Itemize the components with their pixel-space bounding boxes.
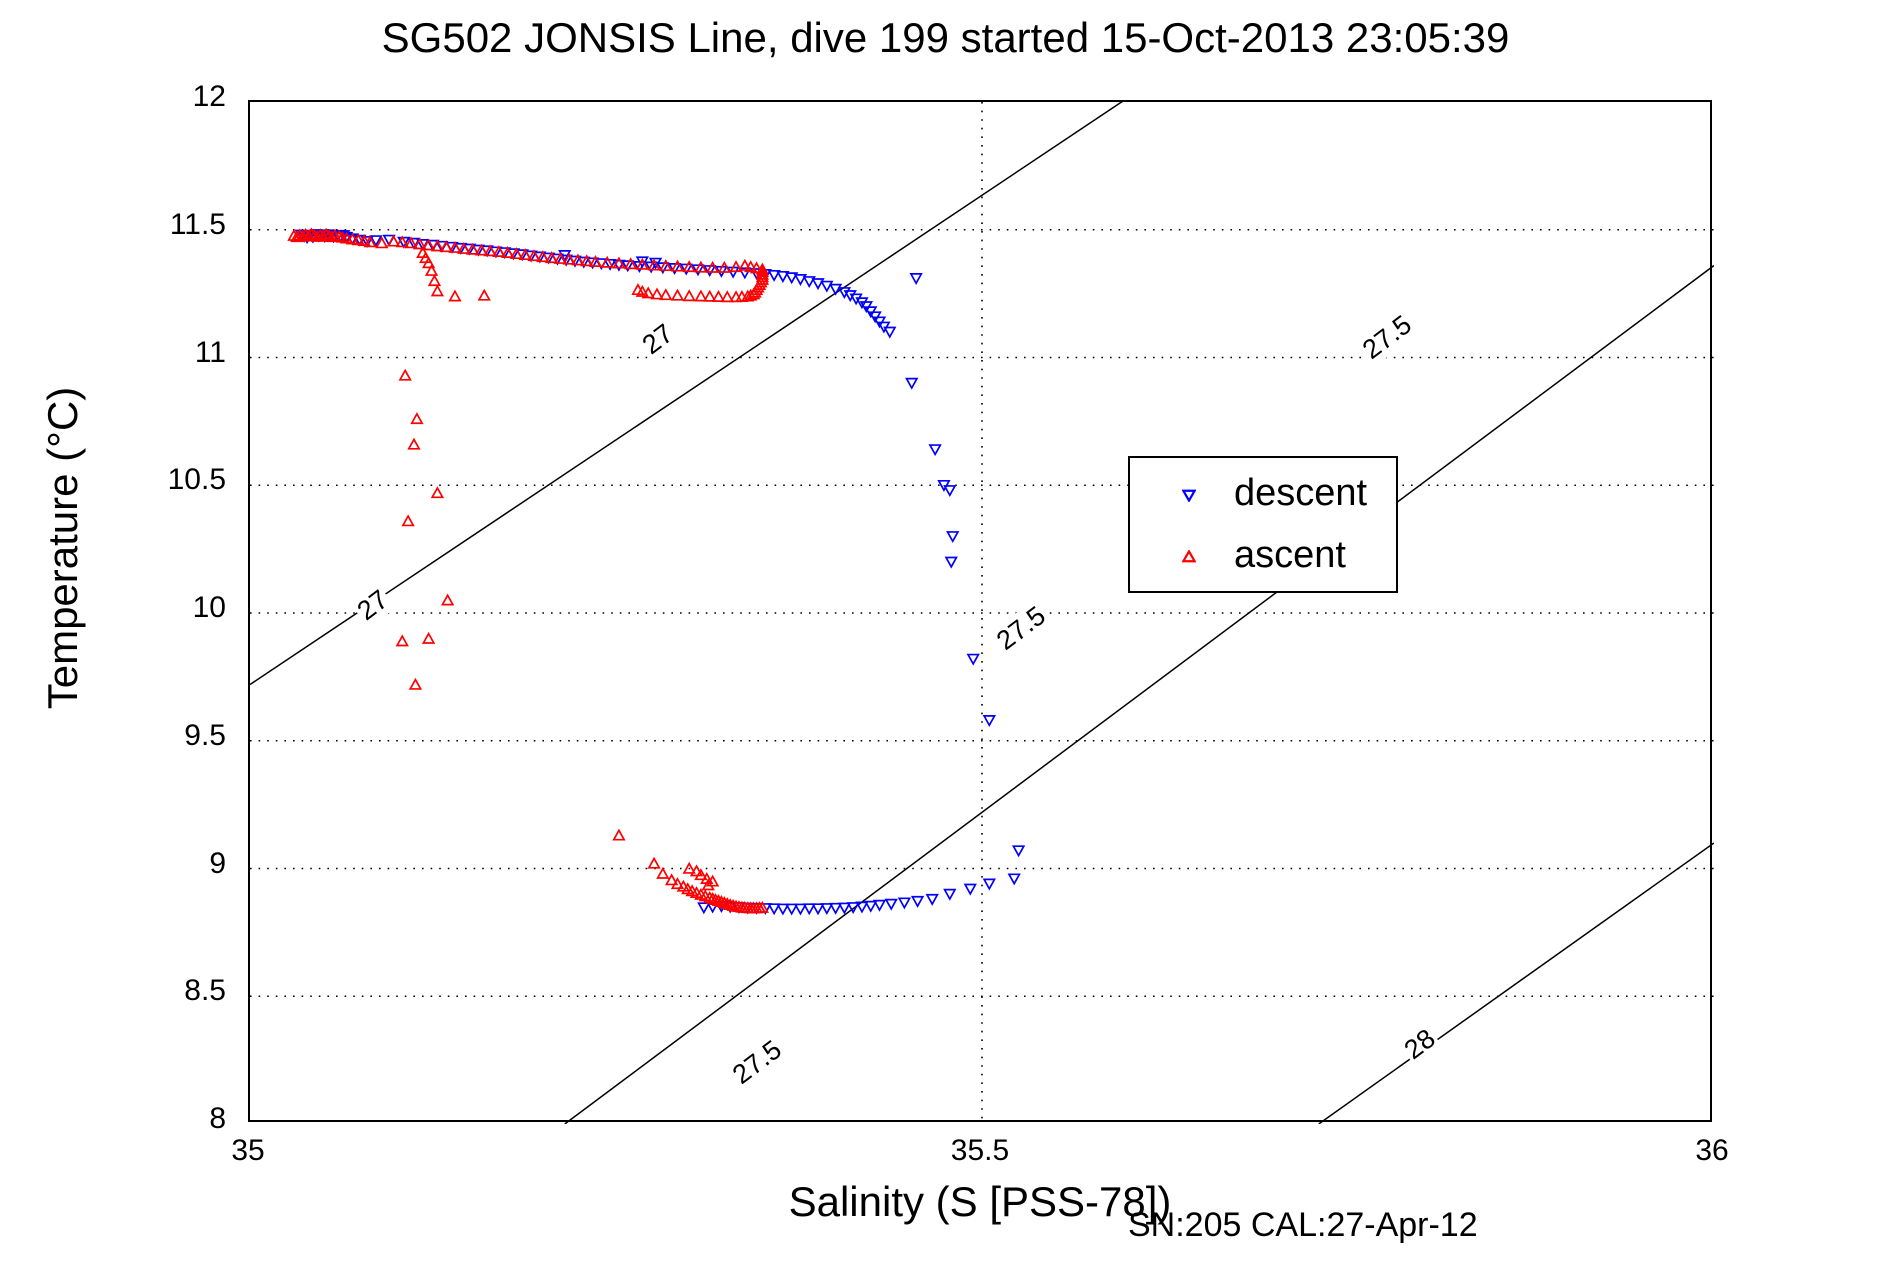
- legend-row-ascent: ascent: [1130, 536, 1400, 586]
- chart-title: SG502 JONSIS Line, dive 199 started 15-O…: [0, 14, 1891, 62]
- triangle-down-icon: [1182, 488, 1196, 502]
- x-tick-label: 36: [1632, 1134, 1792, 1168]
- legend-box: descent ascent: [1128, 456, 1398, 593]
- y-tick-label: 8.5: [56, 974, 226, 1008]
- y-tick-label: 12: [56, 80, 226, 114]
- triangle-up-icon: [1182, 550, 1196, 564]
- x-tick-label: 35.5: [900, 1134, 1060, 1168]
- legend-row-descent: descent: [1130, 474, 1400, 524]
- scatter-ascent: [289, 229, 768, 912]
- legend-label-ascent: ascent: [1234, 534, 1346, 577]
- density-contours: [250, 0, 1714, 1124]
- plot-area: 272727.527.527.528: [248, 100, 1712, 1122]
- plot-svg: [250, 102, 1714, 1124]
- legend-label-descent: descent: [1234, 472, 1367, 515]
- y-axis-label: Temperature (°C): [39, 238, 87, 858]
- x-axis-label: Salinity (S [PSS-78]): [248, 1178, 1712, 1226]
- y-tick-label: 11.5: [56, 208, 226, 242]
- figure-canvas: SG502 JONSIS Line, dive 199 started 15-O…: [0, 0, 1891, 1262]
- sensor-footer: SN:205 CAL:27-Apr-12: [1128, 1206, 1478, 1245]
- x-tick-label: 35: [168, 1134, 328, 1168]
- y-tick-label: 8: [56, 1102, 226, 1136]
